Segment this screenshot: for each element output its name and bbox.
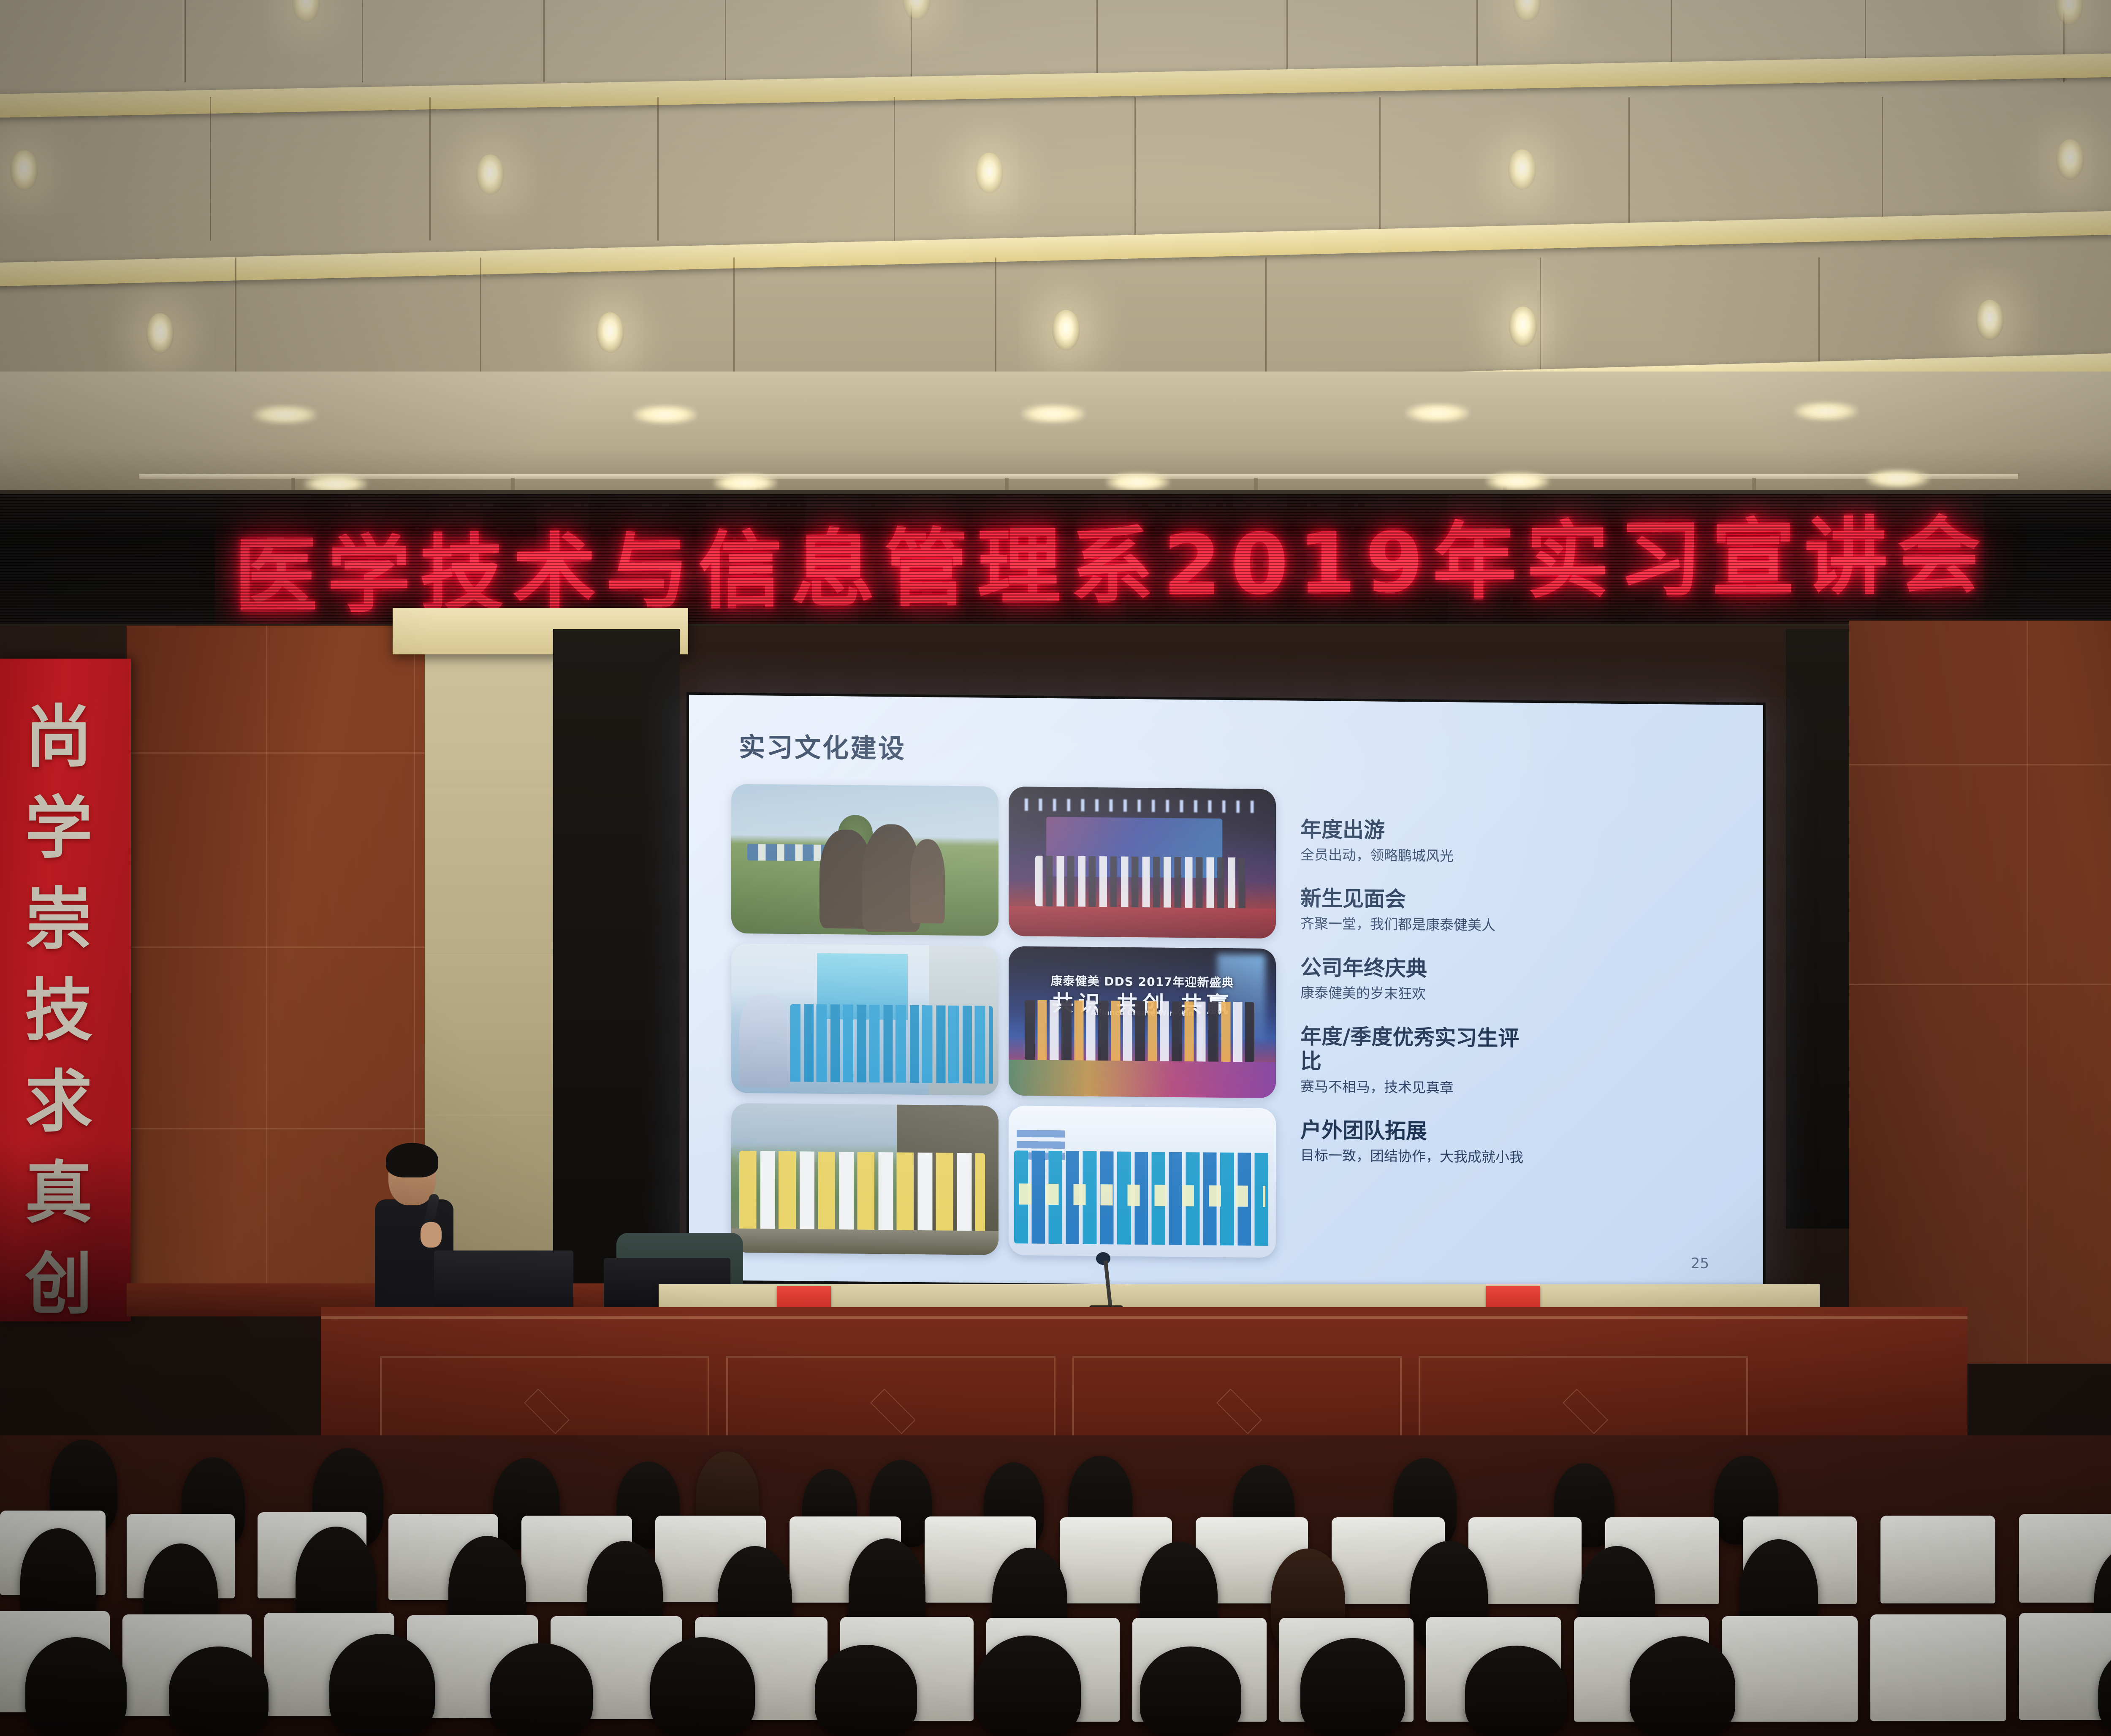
soffit-light <box>1794 402 1858 420</box>
soffit-light <box>1022 404 1085 423</box>
wall-banner-char: 尚 <box>14 692 103 783</box>
downlight <box>1052 310 1080 350</box>
wall-panel-wood-right <box>1849 621 2111 1364</box>
slide-photo-grid: 康泰健美 DDS 2017年迎新盛典 共识 共创 共赢 Alliance Cre… <box>731 784 1276 1258</box>
downlight <box>10 150 38 191</box>
presentation-slide: 实习文化建设 康泰健美 DDS 2017年迎新盛典 共识 共创 <box>689 695 1763 1290</box>
downlight <box>596 312 624 353</box>
slide-item-heading: 公司年终庆典 <box>1300 955 1528 982</box>
soffit-light <box>1106 473 1169 491</box>
audience-seat <box>1722 1616 1858 1722</box>
speaker-hand <box>421 1222 442 1248</box>
downlight <box>1976 300 2004 340</box>
slide-photo-dds-ceremony: 康泰健美 DDS 2017年迎新盛典 共识 共创 共赢 Alliance Cre… <box>1009 946 1276 1098</box>
slide-item-subtext: 目标一致，团结协作，大我成就小我 <box>1300 1147 1528 1166</box>
downlight <box>2056 139 2084 180</box>
slide-photo-group-wall <box>731 1103 999 1255</box>
audience-head <box>25 1637 127 1736</box>
downlight <box>1509 307 1537 347</box>
wall-banner-red: 尚 学 崇 技 求 真 创 新 <box>0 659 131 1321</box>
slide-item-0: 年度出游 全员出动，领略鹏城风光 <box>1300 817 1528 865</box>
audience-head <box>815 1645 917 1736</box>
podium-top-rail <box>659 1284 1820 1310</box>
soffit-light <box>1486 472 1549 491</box>
speaker-hair <box>386 1143 438 1177</box>
slide-item-2: 公司年终庆典 康泰健美的岁末狂欢 <box>1300 955 1528 1003</box>
banner-shadow <box>0 1140 131 1321</box>
wall-banner-char: 求 <box>14 1056 103 1147</box>
wall-banner-char: 崇 <box>14 874 103 965</box>
wall-banner-char: 技 <box>14 965 103 1056</box>
audience-head <box>1465 1646 1567 1736</box>
downlight <box>1508 149 1536 190</box>
slide-item-heading: 新生见面会 <box>1300 886 1528 913</box>
auditorium-scene: 医学技术与信息管理系2019年实习宣讲会 尚 学 崇 技 求 真 创 <box>0 0 2111 1736</box>
slide-photo-outing <box>731 784 999 936</box>
led-banner: 医学技术与信息管理系2019年实习宣讲会 <box>0 490 2111 629</box>
audience-head <box>169 1646 269 1736</box>
soffit-light <box>633 405 697 424</box>
podium-highlight <box>321 1316 1967 1319</box>
slide-item-3: 年度/季度优秀实习生评比 赛马不相马，技术见真章 <box>1300 1024 1528 1097</box>
slide-item-1: 新生见面会 齐聚一堂，我们都是康泰健美人 <box>1300 886 1528 934</box>
slide-item-subtext: 齐聚一堂，我们都是康泰健美人 <box>1300 915 1528 934</box>
wall-dark-left <box>553 629 680 1288</box>
slide-photo-gala-stage <box>1009 787 1276 939</box>
slide-title: 实习文化建设 <box>739 726 906 765</box>
downlight <box>146 313 174 354</box>
name-card-left <box>777 1286 831 1310</box>
soffit-rail <box>139 474 2018 479</box>
audience-seat <box>1870 1614 2006 1721</box>
audience-seat <box>1880 1516 1995 1603</box>
audience-head <box>1300 1638 1405 1736</box>
wall-banner-char: 学 <box>14 783 103 874</box>
slide-item-4: 户外团队拓展 目标一致，团结协作，大我成就小我 <box>1300 1118 1528 1166</box>
audience-head <box>1140 1646 1241 1736</box>
audience-head <box>975 1636 1081 1736</box>
audience-head <box>490 1643 593 1736</box>
downlight <box>975 153 1003 193</box>
name-card-right <box>1486 1286 1540 1310</box>
slide-item-subtext: 康泰健美的岁末狂欢 <box>1300 984 1528 1003</box>
slide-item-heading: 年度/季度优秀实习生评比 <box>1300 1024 1528 1076</box>
soffit-light <box>253 405 317 424</box>
slide-photo-interns-lineup <box>731 944 999 1096</box>
audience-seat <box>2019 1613 2111 1720</box>
gooseneck-mic-head <box>1096 1252 1110 1265</box>
slide-item-heading: 年度出游 <box>1300 817 1528 844</box>
slide-item-heading: 户外团队拓展 <box>1300 1118 1528 1145</box>
slide-item-subtext: 全员出动，领略鹏城风光 <box>1300 846 1528 865</box>
laptop-on-podium <box>434 1250 573 1310</box>
slide-page-number: 25 <box>1691 1255 1709 1272</box>
slide-item-subtext: 赛马不相马，技术见真章 <box>1300 1078 1528 1097</box>
audience-head <box>1630 1636 1735 1736</box>
slide-text-column: 年度出游 全员出动，领略鹏城风光 新生见面会 齐聚一堂，我们都是康泰健美人 公司… <box>1300 817 1528 1189</box>
projection-screen: 实习文化建设 康泰健美 DDS 2017年迎新盛典 共识 共创 <box>686 692 1766 1293</box>
slide-photo-award-group <box>1009 1106 1276 1258</box>
audience-head <box>650 1637 755 1736</box>
soffit-light <box>1406 404 1469 422</box>
audience-area <box>0 1435 2111 1736</box>
soffit-light <box>1866 469 1929 488</box>
audience-head <box>329 1634 435 1736</box>
downlight <box>476 155 504 195</box>
